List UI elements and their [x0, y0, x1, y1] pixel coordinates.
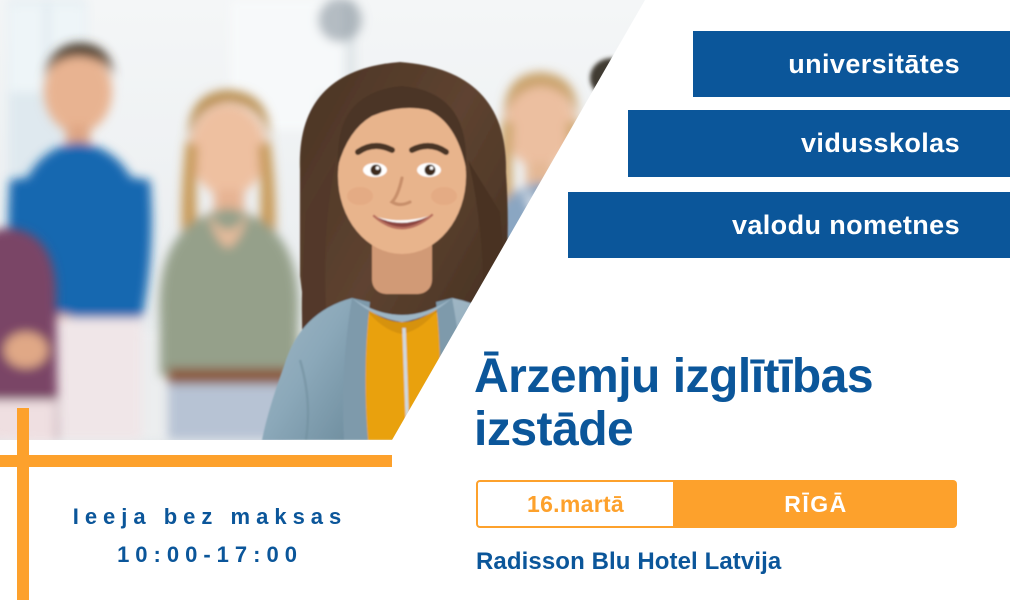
horizontal-accent-rule: [0, 455, 392, 467]
category-bar-secondary-schools: vidusskolas: [628, 110, 1010, 177]
poster-root: universitātes vidusskolas valodu nometne…: [0, 0, 1010, 600]
free-entry-label: Ieeja bez maksas: [40, 498, 380, 536]
event-date-badge: 16.martā: [476, 480, 675, 528]
vertical-accent-rule: [17, 408, 29, 600]
category-label: vidusskolas: [801, 128, 960, 159]
event-venue: Radisson Blu Hotel Latvija: [476, 548, 781, 576]
category-label: valodu nometnes: [732, 210, 960, 241]
opening-hours: 10:00-17:00: [40, 536, 380, 574]
event-date-location-bar: 16.martā RĪGĀ: [476, 480, 957, 528]
category-bar-universities: universitātes: [693, 31, 1010, 97]
event-city-badge: RĪGĀ: [675, 480, 957, 528]
page-title: Ārzemju izglītības izstāde: [474, 350, 1004, 456]
free-entry-info: Ieeja bez maksas 10:00-17:00: [40, 498, 380, 574]
category-bar-language-camps: valodu nometnes: [568, 192, 1010, 258]
category-label: universitātes: [788, 49, 960, 80]
